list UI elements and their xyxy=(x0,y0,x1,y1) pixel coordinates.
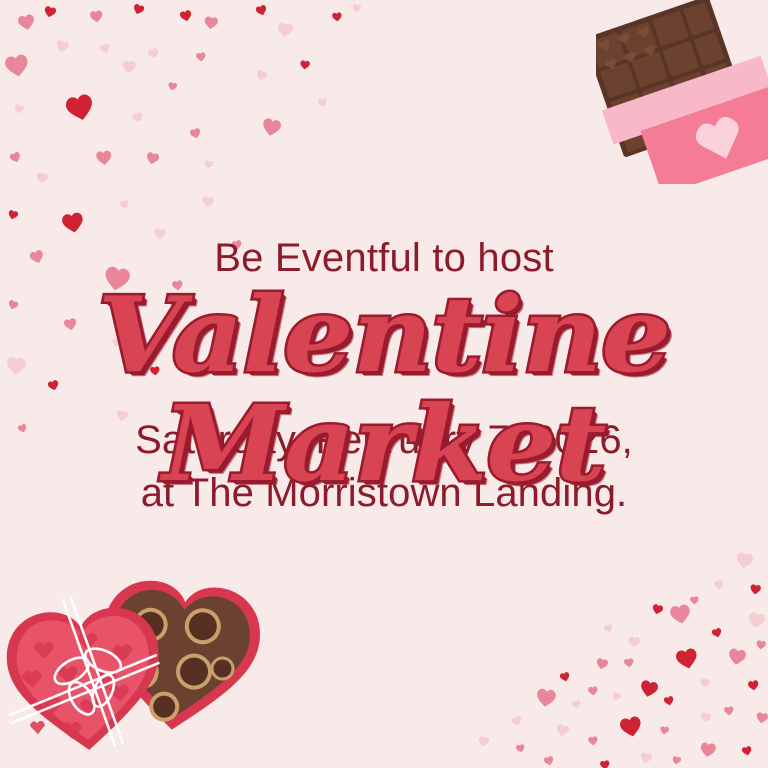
confetti-heart xyxy=(95,149,113,167)
poster-title-wrap: Valentine Market xyxy=(0,284,768,404)
confetti-heart xyxy=(535,687,558,710)
confetti-heart xyxy=(276,21,295,40)
confetti-heart xyxy=(699,741,717,759)
confetti-heart xyxy=(351,3,362,14)
chocolate-bar-icon xyxy=(596,0,768,184)
confetti-heart xyxy=(515,743,526,754)
confetti-heart xyxy=(741,745,753,757)
confetti-heart xyxy=(511,715,524,728)
confetti-heart xyxy=(147,47,160,60)
confetti-heart xyxy=(13,103,26,116)
confetti-heart xyxy=(723,705,734,716)
confetti-heart xyxy=(145,151,161,167)
confetti-heart xyxy=(543,755,555,767)
confetti-heart xyxy=(317,97,327,107)
confetti-heart xyxy=(35,171,49,185)
heart-chocolate-boxes-icon xyxy=(0,568,272,768)
confetti-heart xyxy=(660,726,670,736)
confetti-heart xyxy=(89,9,104,24)
confetti-heart xyxy=(755,711,768,725)
confetti-heart xyxy=(195,51,206,62)
confetti-heart xyxy=(255,4,269,18)
confetti-heart xyxy=(618,714,644,740)
confetti-heart xyxy=(690,596,700,606)
confetti-heart xyxy=(99,43,112,56)
confetti-heart xyxy=(588,736,599,747)
confetti-heart xyxy=(55,39,70,54)
confetti-heart xyxy=(713,579,725,591)
confetti-heart xyxy=(627,635,640,648)
poster-title: Valentine Market xyxy=(0,280,768,498)
confetti-heart xyxy=(60,210,85,235)
confetti-heart xyxy=(639,751,653,765)
confetti-heart xyxy=(300,60,311,71)
confetti-heart xyxy=(43,5,58,20)
confetti-heart xyxy=(260,116,283,139)
confetti-heart xyxy=(671,755,682,766)
confetti-heart xyxy=(131,2,145,16)
confetti-heart xyxy=(63,91,97,125)
confetti-heart xyxy=(131,111,143,123)
confetti-heart xyxy=(674,646,700,672)
confetti-heart xyxy=(201,195,215,209)
confetti-heart xyxy=(623,657,634,668)
confetti-heart xyxy=(599,759,610,768)
confetti-heart xyxy=(749,583,761,595)
confetti-heart xyxy=(746,610,766,630)
confetti-heart xyxy=(121,59,136,74)
confetti-heart xyxy=(711,627,724,640)
confetti-heart xyxy=(571,699,581,709)
confetti-heart xyxy=(699,711,712,724)
confetti-heart xyxy=(651,603,665,617)
confetti-heart xyxy=(332,12,343,23)
confetti-heart xyxy=(7,209,19,221)
confetti-heart xyxy=(735,551,755,571)
confetti-heart xyxy=(559,671,571,683)
confetti-heart xyxy=(699,677,710,688)
confetti-heart xyxy=(8,150,22,164)
confetti-heart xyxy=(755,639,766,650)
confetti-heart xyxy=(203,15,219,31)
confetti-heart xyxy=(179,9,194,24)
confetti-heart xyxy=(668,602,692,626)
confetti-heart xyxy=(3,52,31,80)
confetti-heart xyxy=(603,623,614,634)
confetti-heart xyxy=(595,657,610,672)
poster-text-block: Be Eventful to host Valentine Market Sat… xyxy=(0,236,768,520)
confetti-heart xyxy=(638,678,659,699)
confetti-heart xyxy=(119,199,130,210)
confetti-heart xyxy=(663,695,675,707)
confetti-heart xyxy=(16,12,36,32)
confetti-heart xyxy=(588,686,599,697)
valentine-market-poster: Be Eventful to host Valentine Market Sat… xyxy=(0,0,768,768)
confetti-heart xyxy=(167,81,178,92)
confetti-heart xyxy=(255,69,269,83)
confetti-heart xyxy=(189,127,203,141)
confetti-heart xyxy=(477,735,491,749)
confetti-heart xyxy=(203,159,213,169)
confetti-heart xyxy=(611,691,622,702)
confetti-heart xyxy=(555,723,570,738)
confetti-heart xyxy=(727,647,748,668)
confetti-heart xyxy=(747,679,760,692)
